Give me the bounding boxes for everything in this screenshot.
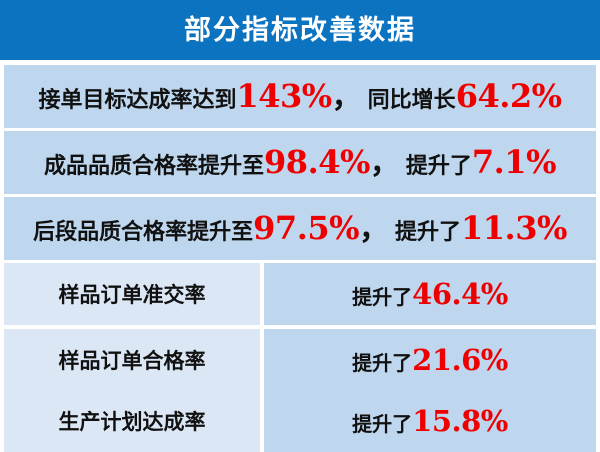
metric-label-4: 样品订单准交率 <box>59 279 206 309</box>
metric-sentence-3: 后段品质合格率提升至 97.5% ， 提升了 11.3% <box>33 212 567 245</box>
metric-label-cell-5: 样品订单合格率 <box>4 329 260 391</box>
metric-row-2: 成品品质合格率提升至 98.4% ， 提升了 7.1% <box>4 131 596 194</box>
metric-lead-value-3: 97.5% <box>253 212 359 244</box>
metric-value-cell-6: 提升了 15.8% <box>264 390 596 452</box>
page-title: 部分指标改善数据 <box>184 17 416 44</box>
metric-value-number-5: 21.6% <box>412 346 508 375</box>
metric-value-text-5: 提升了 <box>352 353 412 373</box>
metric-label-5: 样品订单合格率 <box>59 345 206 375</box>
metric-row-5: 样品订单合格率 提升了 21.6% <box>4 329 596 391</box>
metric-separator-1: ， <box>332 83 368 113</box>
title-bar: 部分指标改善数据 <box>0 0 600 60</box>
metric-sentence-2: 成品品质合格率提升至 98.4% ， 提升了 7.1% <box>44 146 556 179</box>
metric-row-4: 样品订单准交率 提升了 46.4% <box>4 263 596 325</box>
metric-lead-text-3: 后段品质合格率提升至 <box>33 222 253 244</box>
metric-label-cell-6: 生产计划达成率 <box>4 390 260 452</box>
metric-row-3: 后段品质合格率提升至 97.5% ， 提升了 11.3% <box>4 197 596 260</box>
metric-tail-value-1: 64.2% <box>456 80 562 112</box>
metric-value-cell-5: 提升了 21.6% <box>264 329 596 391</box>
metric-separator-3: ， <box>359 215 395 245</box>
metric-tail-value-3: 11.3% <box>461 212 567 244</box>
metric-row-1: 接单目标达成率达到 143% ， 同比增长 64.2% <box>4 65 596 128</box>
metric-lead-text-1: 接单目标达成率达到 <box>38 90 236 112</box>
metric-tail-text-3: 提升了 <box>395 222 461 244</box>
metric-value-number-6: 15.8% <box>412 407 508 436</box>
metrics-improvement-board: 部分指标改善数据 接单目标达成率达到 143% ， 同比增长 64.2% 成品品… <box>0 0 600 452</box>
metric-value-text-6: 提升了 <box>352 414 412 434</box>
metric-sentence-4: 提升了 46.4% <box>352 280 508 309</box>
metric-tail-text-1: 同比增长 <box>368 90 456 112</box>
metric-sentence-5: 提升了 21.6% <box>352 346 508 375</box>
metric-lead-value-2: 98.4% <box>264 146 370 178</box>
metric-row-6: 生产计划达成率 提升了 15.8% <box>4 390 596 452</box>
metric-separator-2: ， <box>370 149 406 179</box>
metric-sentence-1: 接单目标达成率达到 143% ， 同比增长 64.2% <box>38 80 561 113</box>
metric-value-cell-4: 提升了 46.4% <box>264 263 596 325</box>
metric-lead-text-2: 成品品质合格率提升至 <box>44 156 264 178</box>
metric-tail-text-2: 提升了 <box>406 156 472 178</box>
metric-label-6: 生产计划达成率 <box>59 406 206 436</box>
metric-sentence-6: 提升了 15.8% <box>352 407 508 436</box>
metric-lead-value-1: 143% <box>236 80 331 112</box>
metric-value-text-4: 提升了 <box>352 287 412 307</box>
metric-tail-value-2: 7.1% <box>472 146 556 178</box>
metric-label-cell-4: 样品订单准交率 <box>4 263 260 325</box>
metric-value-number-4: 46.4% <box>412 280 508 309</box>
